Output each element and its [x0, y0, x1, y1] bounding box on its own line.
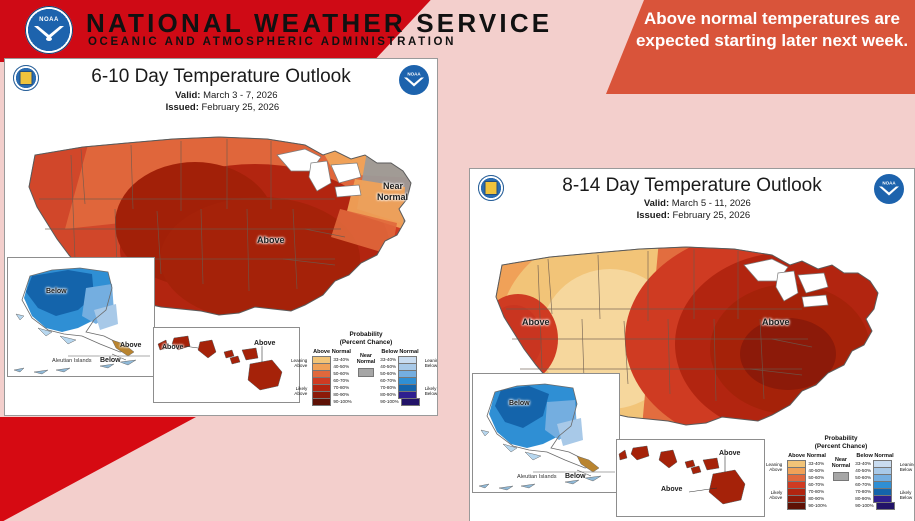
- noaa-seal-icon: NOAA: [25, 6, 73, 54]
- likely-below-l2-1: Below: [425, 391, 438, 396]
- near-normal-swatch-2: [833, 472, 849, 481]
- legend-below-column-1: Below Normal 33-40%40-50%50-60%60-70%70-…: [380, 349, 419, 405]
- map-panel-6-10-day: 6-10 Day Temperature Outlook Valid: Marc…: [4, 58, 438, 416]
- legend-swatch-below-90-100%: [876, 502, 895, 510]
- legend-row-above-6-1: 90-100%: [312, 398, 351, 405]
- page-subtitle: OCEANIC AND ATMOSPHERIC ADMINISTRATION: [88, 36, 456, 48]
- legend-percent-above-50-60%: 50-60%: [808, 475, 824, 480]
- legend-percent-above-90-100%: 90-100%: [808, 503, 826, 508]
- hawaii-graphic-2: [617, 440, 764, 516]
- legend-percent-below-33-40%: 33-40%: [380, 357, 396, 362]
- legend-title-line2-2: (Percent Chance): [770, 443, 912, 451]
- map-valid-line-8-14: Valid: March 5 - 11, 2026: [470, 198, 914, 209]
- legend-near-normal-2: NearNormal: [832, 453, 851, 509]
- issued-label-8-14: Issued:: [634, 210, 670, 221]
- legend-above-header-1: Above Normal: [312, 349, 351, 355]
- commerce-seal-icon-2: [478, 175, 504, 201]
- legend-percent-above-80-90%: 80-90%: [333, 392, 349, 397]
- noaa-logo-bird-icon-1: [403, 75, 425, 88]
- legend-percent-below-90-100%: 90-100%: [380, 399, 398, 404]
- legend-row-above-6-2: 90-100%: [787, 502, 826, 509]
- likely-below-l2-2: Below: [900, 495, 913, 500]
- legend-swatch-below-90-100%: [401, 398, 420, 406]
- legend-swatch-above-90-100%: [787, 502, 806, 510]
- legend-below-column-2: Below Normal 33-40%40-50%50-60%60-70%70-…: [855, 453, 894, 509]
- legend-row-below-6-2: 90-100%: [855, 502, 894, 509]
- page-title: NATIONAL WEATHER SERVICE: [86, 8, 552, 39]
- legend-bracket-below-1: LeaningBelow LikelyBelow: [425, 349, 438, 405]
- map-issued-line-8-14: Issued: February 25, 2026: [470, 210, 914, 221]
- legend-percent-below-70-80%: 70-80%: [855, 489, 871, 494]
- hawaii-graphic-1: [154, 328, 299, 402]
- legend-percent-below-33-40%: 33-40%: [855, 461, 871, 466]
- leaning-below-l2-1: Below: [425, 363, 438, 368]
- legend-title-line2-1: (Percent Chance): [299, 339, 433, 347]
- legend-bracket-above-1: LeaningAbove LikelyAbove: [291, 349, 307, 405]
- leaning-above-l2-2: Above: [769, 467, 782, 472]
- legend-percent-below-60-70%: 60-70%: [855, 482, 871, 487]
- legend-percent-below-80-90%: 80-90%: [855, 496, 871, 501]
- legend-percent-above-70-80%: 70-80%: [808, 489, 824, 494]
- legend-percent-above-33-40%: 33-40%: [333, 357, 349, 362]
- commerce-seal-icon-1: [13, 65, 39, 91]
- valid-value-6-10: March 3 - 7, 2026: [203, 90, 277, 101]
- likely-above-l2-1: Above: [294, 391, 307, 396]
- valid-value-8-14: March 5 - 11, 2026: [672, 198, 751, 209]
- legend-percent-above-60-70%: 60-70%: [333, 378, 349, 383]
- leaning-above-l2-1: Above: [294, 363, 307, 368]
- alaska-inset-1: Below Above Aleutian Islands Below: [7, 257, 155, 377]
- legend-bracket-below-2: LeaningBelow LikelyBelow: [900, 453, 915, 509]
- poster-canvas: NOAA NATIONAL WEATHER SERVICE OCEANIC AN…: [0, 0, 915, 521]
- legend-swatch-above-90-100%: [312, 398, 331, 406]
- map-issued-line-6-10: Issued: February 25, 2026: [5, 102, 437, 113]
- near-l2-1: Normal: [357, 359, 376, 365]
- legend-percent-below-50-60%: 50-60%: [855, 475, 871, 480]
- map-title-6-10: 6-10 Day Temperature Outlook: [5, 66, 437, 88]
- legend-percent-below-50-60%: 50-60%: [380, 371, 396, 376]
- legend-percent-below-40-50%: 40-50%: [855, 468, 871, 473]
- legend-above-header-2: Above Normal: [787, 453, 826, 459]
- legend-percent-below-70-80%: 70-80%: [380, 385, 396, 390]
- noaa-logo-bird-icon-2: [878, 184, 900, 197]
- hawaii-inset-2: Above Above: [616, 439, 765, 517]
- near-l1-2: Near: [835, 457, 847, 463]
- noaa-logo-icon-2: NOAA: [874, 174, 904, 204]
- legend-title-line1-1: Probability: [299, 331, 433, 339]
- legend-8-14-day: Probability (Percent Chance) LeaningAbov…: [770, 435, 912, 509]
- legend-percent-above-70-80%: 70-80%: [333, 385, 349, 390]
- alaska-graphic-2: [473, 374, 619, 492]
- legend-percent-above-80-90%: 80-90%: [808, 496, 824, 501]
- alaska-graphic-1: [8, 258, 154, 376]
- map-panel-8-14-day: 8-14 Day Temperature Outlook Valid: Marc…: [469, 168, 915, 521]
- near-normal-swatch-1: [358, 368, 374, 377]
- likely-above-l2-2: Above: [769, 495, 782, 500]
- leaning-below-l2-2: Below: [900, 467, 913, 472]
- issued-value-8-14: February 25, 2026: [673, 210, 751, 221]
- legend-near-normal-1: NearNormal: [357, 349, 376, 405]
- legend-percent-above-33-40%: 33-40%: [808, 461, 824, 466]
- legend-percent-above-40-50%: 40-50%: [333, 364, 349, 369]
- near-l2-2: Normal: [832, 463, 851, 469]
- legend-below-header-2: Below Normal: [855, 453, 894, 459]
- hawaii-inset-1: Above Above: [153, 327, 300, 403]
- issued-value-6-10: February 25, 2026: [202, 102, 280, 113]
- valid-label-6-10: Valid:: [164, 90, 200, 101]
- map-title-8-14: 8-14 Day Temperature Outlook: [470, 175, 914, 197]
- legend-percent-below-80-90%: 80-90%: [380, 392, 396, 397]
- legend-row-below-6-1: 90-100%: [380, 398, 419, 405]
- legend-6-10-day: Probability (Percent Chance) LeaningAbov…: [299, 331, 433, 405]
- legend-percent-above-40-50%: 40-50%: [808, 468, 824, 473]
- legend-above-column-2: Above Normal 33-40%40-50%50-60%60-70%70-…: [787, 453, 826, 509]
- legend-below-header-1: Below Normal: [380, 349, 419, 355]
- legend-bracket-above-2: LeaningAbove LikelyAbove: [766, 453, 782, 509]
- legend-percent-above-50-60%: 50-60%: [333, 371, 349, 376]
- alaska-inset-2: Below Aleutian Islands Below: [472, 373, 620, 493]
- noaa-bird-icon: [32, 22, 66, 42]
- summary-banner-text: Above normal temperatures are expected s…: [632, 8, 912, 53]
- legend-percent-above-90-100%: 90-100%: [333, 399, 351, 404]
- map-valid-line-6-10: Valid: March 3 - 7, 2026: [5, 90, 437, 101]
- legend-title-line1-2: Probability: [770, 435, 912, 443]
- noaa-logo-icon-1: NOAA: [399, 65, 429, 95]
- legend-percent-below-60-70%: 60-70%: [380, 378, 396, 383]
- issued-label-6-10: Issued:: [163, 102, 199, 113]
- legend-percent-above-60-70%: 60-70%: [808, 482, 824, 487]
- near-l1-1: Near: [360, 353, 372, 359]
- legend-percent-below-40-50%: 40-50%: [380, 364, 396, 369]
- legend-percent-below-90-100%: 90-100%: [855, 503, 873, 508]
- footer-red-triangle: [0, 417, 196, 521]
- legend-above-column-1: Above Normal 33-40%40-50%50-60%60-70%70-…: [312, 349, 351, 405]
- valid-label-8-14: Valid:: [633, 198, 669, 209]
